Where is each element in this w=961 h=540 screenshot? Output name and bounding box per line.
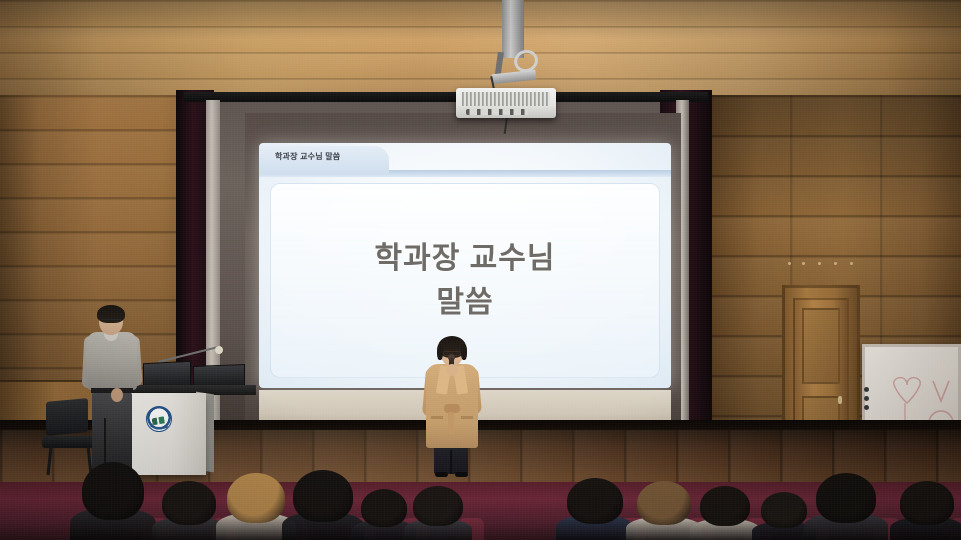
audience-member — [890, 486, 961, 540]
audience-member — [804, 480, 888, 540]
mic-head-icon — [215, 346, 223, 354]
operator-hand — [111, 388, 123, 402]
audience-head — [293, 470, 353, 522]
presenter-hair-side-right — [461, 344, 467, 360]
audience-head — [227, 473, 285, 523]
university-emblem-icon — [146, 406, 172, 432]
slide-title: 학과장 교수님 말씀 — [375, 237, 556, 324]
magnet-icons — [864, 387, 869, 415]
auditorium-photo: 학과장 교수님 말씀 학과장 교수님 말씀 — [0, 0, 961, 540]
presenter-pocket-left — [431, 416, 443, 419]
presenter-hands — [446, 364, 458, 376]
slide-title-line1: 학과장 교수님 — [375, 242, 556, 275]
projector-vent-grille — [462, 92, 550, 106]
screen-mount-rail — [184, 92, 708, 102]
stage-chair-back[interactable] — [46, 398, 88, 436]
audience-head — [567, 478, 623, 524]
projector-control-panel[interactable] — [466, 109, 528, 115]
door-panel-upper — [802, 308, 840, 384]
audience-area — [0, 440, 961, 540]
door-handle-icon[interactable] — [838, 396, 842, 404]
audience-member — [556, 484, 634, 540]
audience-member — [690, 490, 760, 540]
audience-head — [816, 473, 876, 523]
ceiling-projector — [456, 88, 556, 118]
presenter-pocket-right — [461, 416, 473, 419]
audience-head — [637, 481, 691, 525]
audience-head — [761, 492, 807, 528]
wall-studs — [788, 262, 854, 268]
audience-head — [162, 481, 216, 525]
slide-header-label: 학과장 교수님 말씀 — [275, 151, 340, 162]
emblem-arc — [150, 422, 170, 429]
operator-glasses-icon — [101, 319, 121, 323]
audience-member — [152, 486, 226, 540]
audience-head — [700, 486, 750, 526]
audience-head — [413, 486, 463, 526]
slide-title-line2: 말씀 — [375, 281, 556, 325]
presenter-belt-tail — [448, 412, 454, 434]
slide-header-bar: 학과장 교수님 말씀 — [259, 143, 671, 177]
audience-head — [900, 481, 954, 525]
audience-member — [70, 472, 156, 540]
audience-head — [82, 462, 144, 520]
audience-head — [361, 489, 407, 527]
audience-member — [404, 490, 472, 540]
